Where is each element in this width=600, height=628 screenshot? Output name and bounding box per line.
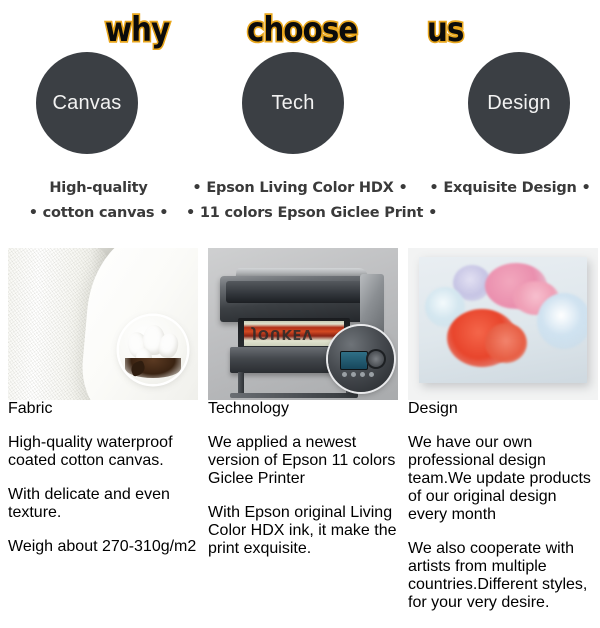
control-panel-button-icon <box>342 372 347 377</box>
badge-tech-label: Tech <box>271 93 314 113</box>
copy-technology: We applied a newest version of Epson 11 … <box>208 434 398 558</box>
cotton-boll-inset <box>119 316 187 384</box>
copy-fabric: High-quality waterproof coated cotton ca… <box>8 434 198 556</box>
copy-design-paragraph: We also cooperate with artists from mult… <box>408 540 598 612</box>
control-panel-screen-icon <box>340 351 368 370</box>
banner-technology-label: Technology <box>208 400 289 417</box>
painted-flower <box>485 323 527 363</box>
banner-technology: Technology <box>208 400 398 418</box>
tagline-canvas: High-quality • cotton canvas • <box>0 176 197 226</box>
copy-fabric-paragraph: Weigh about 270-310g/m2 <box>8 538 198 556</box>
badge-tech: Tech <box>242 52 344 154</box>
feature-panel-fabric: Fabric High-quality waterproof coated co… <box>8 248 198 572</box>
banner-fabric-label: Fabric <box>8 400 52 417</box>
printed-artwork: JOUKEV <box>244 321 344 346</box>
tagline-row: High-quality • cotton canvas • • Epson L… <box>0 176 600 234</box>
headline: why choose us <box>0 6 600 52</box>
tagline-tech: • Epson Living Color HDX • • 11 colors E… <box>186 176 414 226</box>
banner-design: Design <box>408 400 598 418</box>
painted-flower <box>537 293 587 349</box>
printer-lid <box>226 281 376 303</box>
printer-photo: JOUKEV <box>208 248 398 400</box>
copy-technology-paragraph: With Epson original Living Color HDX ink… <box>208 504 398 558</box>
control-panel-button-icon <box>360 372 365 377</box>
feature-panel-technology: JOUKEV Technology We applied a newest ve… <box>208 248 398 574</box>
headline-word-us: us <box>427 10 464 50</box>
tagline-design: • Exquisite Design • <box>420 176 600 201</box>
banner-design-label: Design <box>408 400 458 417</box>
copy-design: We have our own professional design team… <box>408 434 598 612</box>
tagline-design-line1: • Exquisite Design • <box>420 176 600 201</box>
printer-base <box>230 393 358 398</box>
badge-canvas-label: Canvas <box>52 93 121 113</box>
banner-fabric: Fabric <box>8 400 198 418</box>
floral-painting <box>419 257 587 383</box>
tagline-canvas-line1: High-quality <box>0 176 197 201</box>
copy-fabric-paragraph: High-quality waterproof coated cotton ca… <box>8 434 198 470</box>
control-panel-dpad-icon <box>366 349 386 369</box>
copy-design-paragraph: We have our own professional design team… <box>408 434 598 524</box>
control-panel-button-icon <box>369 372 374 377</box>
badge-design-label: Design <box>487 93 550 113</box>
printed-artwork-text: JOUKEV <box>252 326 313 341</box>
fabric-photo <box>8 248 198 400</box>
headline-word-choose: choose <box>247 10 357 50</box>
printer-control-panel-inset <box>328 326 394 392</box>
control-panel-button-icon <box>351 372 356 377</box>
badge-row: Canvas Tech Design <box>0 52 600 156</box>
tagline-canvas-line2: • cotton canvas • <box>0 201 197 226</box>
tagline-tech-line1: • Epson Living Color HDX • <box>186 176 414 201</box>
feature-panel-design: Design We have our own professional desi… <box>408 248 598 628</box>
badge-canvas: Canvas <box>36 52 138 154</box>
tagline-tech-line2: • 11 colors Epson Giclee Print • <box>186 201 414 226</box>
copy-fabric-paragraph: With delicate and even texture. <box>8 486 198 522</box>
badge-design: Design <box>468 52 570 154</box>
artwork-photo <box>408 248 598 400</box>
headline-word-why: why <box>105 10 169 50</box>
copy-technology-paragraph: We applied a newest version of Epson 11 … <box>208 434 398 488</box>
